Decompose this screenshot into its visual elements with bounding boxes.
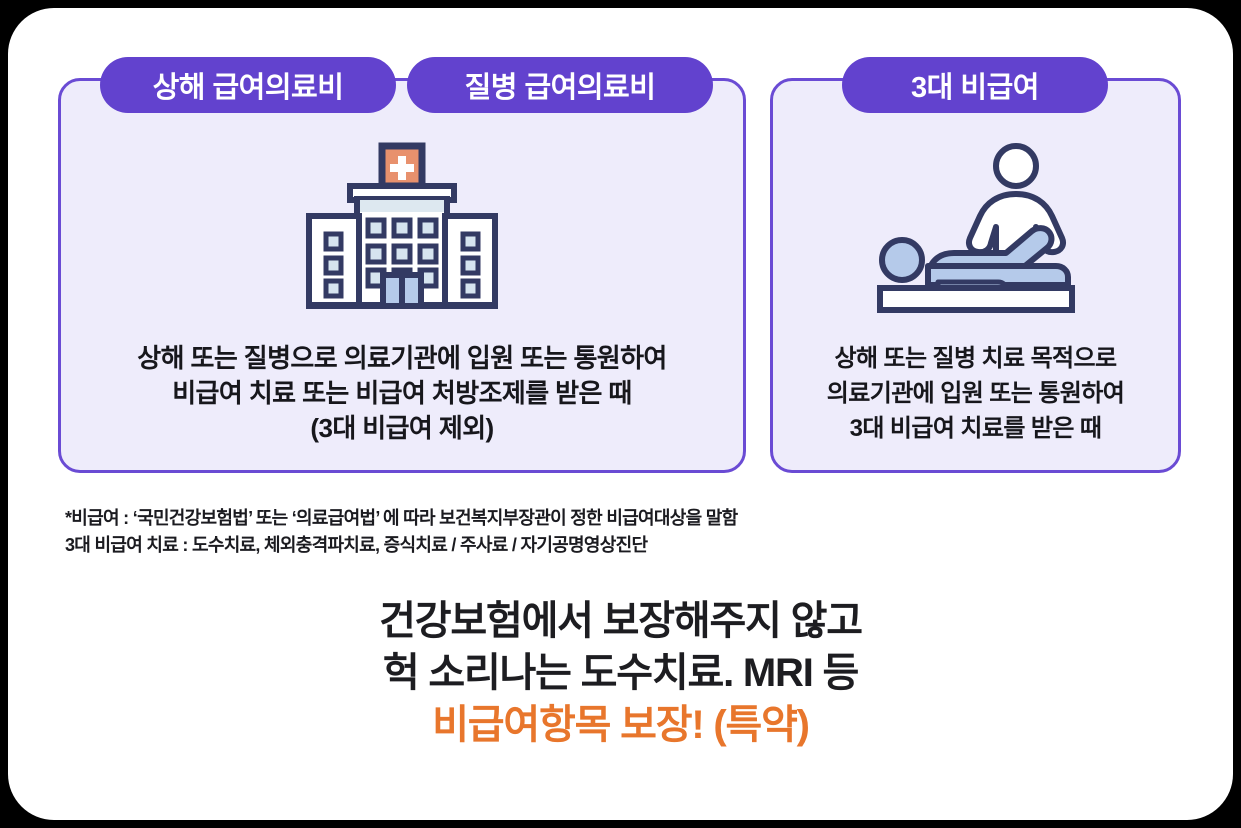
manual-therapy-icon <box>866 142 1086 314</box>
badge-illness-covered-medical-expenses: 질병 급여의료비 <box>407 57 713 113</box>
headline-line-2: 헉 소리나는 도수치료. MRI 등 <box>8 647 1233 699</box>
card-right-line-1: 상해 또는 질병 치료 목적으로 <box>780 341 1171 376</box>
hospital-icon <box>294 142 510 314</box>
card-right-line-3: 3대 비급여 치료를 받은 때 <box>780 411 1171 446</box>
footnote-three-major-list: 3대 비급여 치료 : 도수치료, 체외충격파치료, 증식치료 / 주사료 / … <box>65 532 1065 559</box>
badge-injury-covered-medical-expenses: 상해 급여의료비 <box>100 57 396 113</box>
badge-three-major-noncovered: 3대 비급여 <box>842 57 1108 113</box>
card-left-description: 상해 또는 질병으로 의료기관에 입원 또는 통원하여 비급여 치료 또는 비급… <box>68 341 736 446</box>
content-panel: 상해 또는 질병으로 의료기관에 입원 또는 통원하여 비급여 치료 또는 비급… <box>8 8 1233 820</box>
card-left-line-2: 비급여 치료 또는 비급여 처방조제를 받은 때 <box>68 376 736 411</box>
headline-block: 건강보험에서 보장해주지 않고 헉 소리나는 도수치료. MRI 등 비급여항목… <box>8 595 1233 751</box>
card-left-line-1: 상해 또는 질병으로 의료기관에 입원 또는 통원하여 <box>68 341 736 376</box>
card-right-line-2: 의료기관에 입원 또는 통원하여 <box>780 376 1171 411</box>
screenshot-root: 상해 또는 질병으로 의료기관에 입원 또는 통원하여 비급여 치료 또는 비급… <box>0 0 1241 828</box>
footnote-noncovered-definition: *비급여 : ‘국민건강보험법’ 또는 ‘의료급여법’ 에 따라 보건복지부장관… <box>65 505 1065 532</box>
footnotes-block: *비급여 : ‘국민건강보험법’ 또는 ‘의료급여법’ 에 따라 보건복지부장관… <box>65 505 1065 559</box>
headline-line-1: 건강보험에서 보장해주지 않고 <box>8 595 1233 647</box>
card-left-line-3: (3대 비급여 제외) <box>68 411 736 446</box>
manual-therapy-icon-container <box>770 128 1181 328</box>
hospital-icon-container <box>58 128 746 328</box>
card-right-description: 상해 또는 질병 치료 목적으로 의료기관에 입원 또는 통원하여 3대 비급여… <box>780 341 1171 446</box>
headline-line-3-accent: 비급여항목 보장! (특약) <box>8 699 1233 751</box>
